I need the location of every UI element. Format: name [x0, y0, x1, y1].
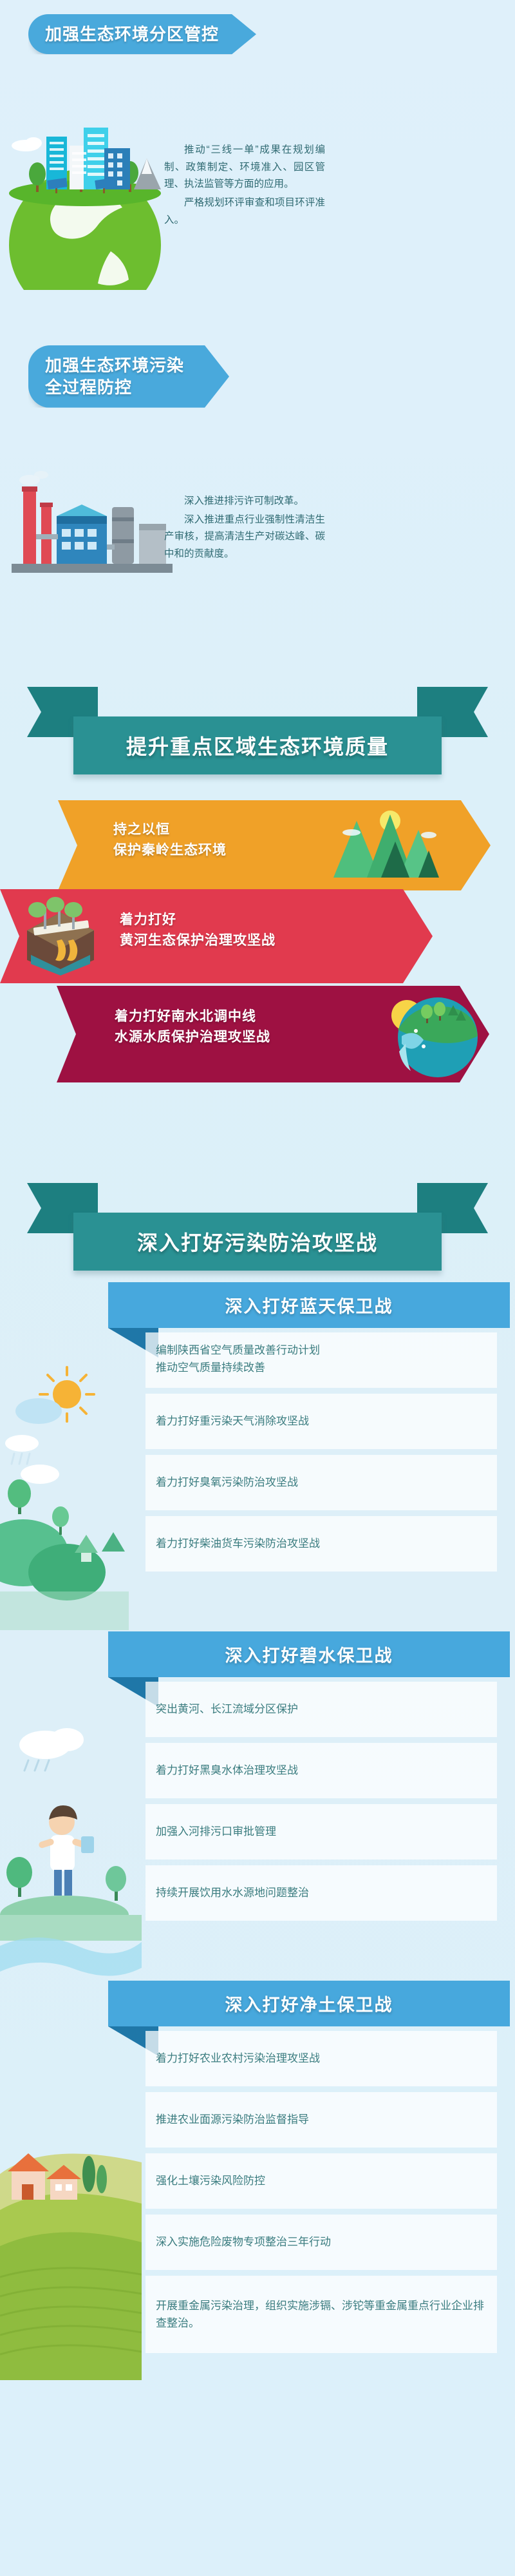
mountain-forest-icon — [328, 805, 451, 883]
blue-sky-city-illustration — [0, 1360, 129, 1630]
whole-process-paragraph-1: 深入推进排污许可制改革。 — [164, 493, 325, 510]
green-earth-city-illustration — [8, 122, 162, 290]
list-item: 着力打好臭氧污染防治攻坚战 — [145, 1455, 497, 1510]
ribbon-body: 提升重点区域生态环境质量 — [73, 716, 442, 774]
list-item: 着力打好柴油货车污染防治攻坚战 — [145, 1516, 497, 1572]
green-earth-city-svg — [8, 122, 162, 290]
list-item: 强化土壤污染风险防控 — [145, 2153, 497, 2209]
whole-process-paragraph-group: 深入推进排污许可制改革。 深入推进重点行业强制性清洁生产审核，提高清洁生产对碳达… — [164, 493, 325, 563]
whole-process-paragraph-2: 深入推进重点行业强制性清洁生产审核，提高清洁生产对碳达峰、碳中和的贡献度。 — [164, 512, 325, 563]
whole-process-header-line2: 全过程防控 — [45, 376, 184, 398]
list-item-line2: 推动空气质量持续改善 — [156, 1359, 265, 1376]
industrial-factory-svg — [12, 467, 173, 593]
list-item: 深入实施危险废物专项整治三年行动 — [145, 2215, 497, 2270]
zoning-paragraph-group: 推动“三线一单”成果在规划编制、政策制定、环境准入、园区管理、执法监管等方面的应… — [164, 142, 325, 229]
whole-process-header-wrap: 加强生态环境污染 全过程防控 — [0, 329, 515, 408]
subhead-clear-water: 深入打好碧水保卫战 — [108, 1631, 510, 1677]
section-key-regions: 提升重点区域生态环境质量 持之以恒 保护秦岭生态环境 着力打好 黄河生态保护治理… — [0, 677, 515, 1166]
section-whole-process: 加强生态环境污染 全过程防控 — [0, 329, 515, 664]
list-item: 突出黄河、长江流域分区保护 — [145, 1682, 497, 1737]
zoning-paragraph-1: 推动“三线一单”成果在规划编制、政策制定、环境准入、园区管理、执法监管等方面的应… — [164, 142, 325, 193]
industrial-factory-illustration — [12, 467, 173, 593]
ribbon2-body: 深入打好污染防治攻坚战 — [73, 1213, 442, 1271]
subhead-clean-soil: 深入打好净土保卫战 — [108, 1981, 510, 2026]
list-item: 编制陕西省空气质量改善行动计划 推动空气质量持续改善 — [145, 1332, 497, 1388]
whole-process-header: 加强生态环境污染 全过程防控 — [28, 345, 229, 408]
farmland-village-illustration — [0, 2084, 142, 2380]
zoning-header-wrap: 加强生态环境分区管控 — [0, 0, 515, 54]
list-item: 持续开展饮用水水源地问题整治 — [145, 1865, 497, 1921]
band-yellow-river-line2: 黄河生态保护治理攻坚战 — [120, 930, 433, 951]
water-scientist-illustration — [0, 1709, 142, 1986]
list-item: 着力打好农业农村污染治理攻坚战 — [145, 2031, 497, 2086]
zoning-paragraph-2: 严格规划环评审查和项目环评准入。 — [164, 195, 325, 229]
list-item: 开展重金属污染治理，组织实施涉镉、涉铊等重金属重点行业企业排查整治。 — [145, 2276, 497, 2353]
band-yellow-river-line1: 着力打好 — [120, 910, 433, 930]
pollution-battle-title: 深入打好污染防治攻坚战 — [137, 1227, 378, 1256]
section-pollution-battle: 深入打好污染防治攻坚战 — [0, 1173, 515, 2576]
section-zoning: 加强生态环境分区管控 — [0, 0, 515, 329]
zoning-header: 加强生态环境分区管控 — [28, 14, 256, 54]
list-item: 推进农业面源污染防治监督指导 — [145, 2092, 497, 2148]
pollution-battle-ribbon: 深入打好污染防治攻坚战 — [13, 1173, 502, 1269]
item-list-blue-sky: 编制陕西省空气质量改善行动计划 推动空气质量持续改善 着力打好重污染天气消除攻坚… — [145, 1332, 497, 1577]
item-list-clear-water: 突出黄河、长江流域分区保护 着力打好黑臭水体治理攻坚战 加强入河排污口审批管理 … — [145, 1682, 497, 1927]
list-item: 着力打好黑臭水体治理攻坚战 — [145, 1743, 497, 1798]
key-regions-ribbon: 提升重点区域生态环境质量 — [13, 677, 502, 773]
infographic-page: 加强生态环境分区管控 — [0, 0, 515, 2576]
list-item: 加强入河排污口审批管理 — [145, 1804, 497, 1860]
key-regions-title: 提升重点区域生态环境质量 — [126, 731, 389, 760]
list-item-line1: 编制陕西省空气质量改善行动计划 — [156, 1341, 320, 1359]
list-item: 着力打好重污染天气消除攻坚战 — [145, 1394, 497, 1449]
globe-water-icon — [386, 991, 483, 1081]
subhead-blue-sky: 深入打好蓝天保卫战 — [108, 1282, 510, 1328]
whole-process-header-line1: 加强生态环境污染 — [45, 354, 184, 376]
river-dam-icon — [18, 893, 102, 977]
item-list-clean-soil: 着力打好农业农村污染治理攻坚战 推进农业面源污染防治监督指导 强化土壤污染风险防… — [145, 2031, 497, 2359]
